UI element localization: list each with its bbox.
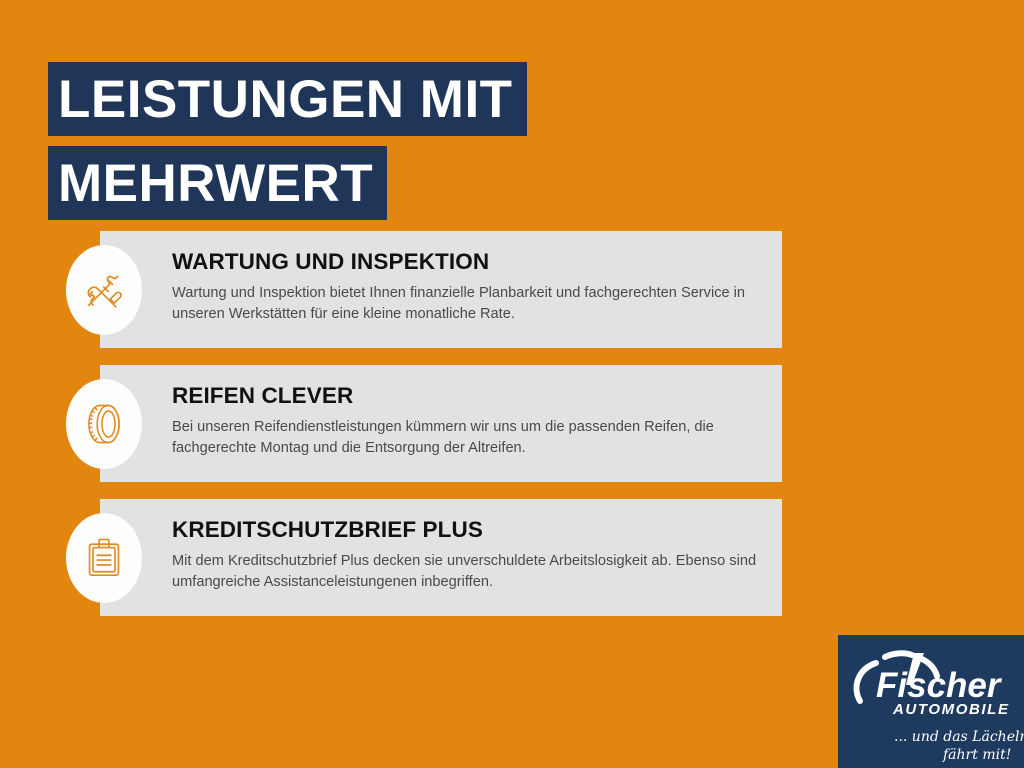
service-card-body: Wartung und Inspektion bietet Ihnen fina… [172, 283, 758, 324]
service-card-wartung-und-inspektion[interactable]: WARTUNG UND INSPEKTION Wartung und Inspe… [100, 231, 782, 348]
logo-subbrand-text: AUTOMOBILE [892, 701, 1010, 718]
page-title: LEISTUNGEN MIT MEHRWERT [48, 62, 527, 220]
fischer-automobile-logo: Fischer AUTOMOBILE ... und das Lächeln f… [838, 635, 1024, 768]
service-card-reifen-clever[interactable]: REIFEN CLEVER Bei unseren Reifendienstle… [100, 365, 782, 482]
service-card-title: REIFEN CLEVER [172, 383, 758, 409]
page-title-line-2: MEHRWERT [48, 146, 387, 220]
logo-tagline-line-1: ... und das Lächeln [894, 729, 1024, 745]
service-card-kreditschutzbrief-plus[interactable]: KREDITSCHUTZBRIEF PLUS Mit dem Kreditsch… [100, 499, 782, 616]
service-card-title: WARTUNG UND INSPEKTION [172, 249, 758, 275]
page-title-line-1: LEISTUNGEN MIT [48, 62, 527, 136]
clipboard-icon [66, 513, 142, 603]
service-card-title: KREDITSCHUTZBRIEF PLUS [172, 517, 758, 543]
logo-tagline-line-2: fährt mit! [942, 747, 1011, 763]
tire-icon [66, 379, 142, 469]
logo-brand-text: Fischer [876, 666, 1003, 705]
wrench-screwdriver-icon [66, 245, 142, 335]
service-card-list: WARTUNG UND INSPEKTION Wartung und Inspe… [100, 231, 782, 616]
service-card-body: Bei unseren Reifendienstleistungen kümme… [172, 417, 758, 458]
service-card-body: Mit dem Kreditschutzbrief Plus decken si… [172, 551, 758, 592]
